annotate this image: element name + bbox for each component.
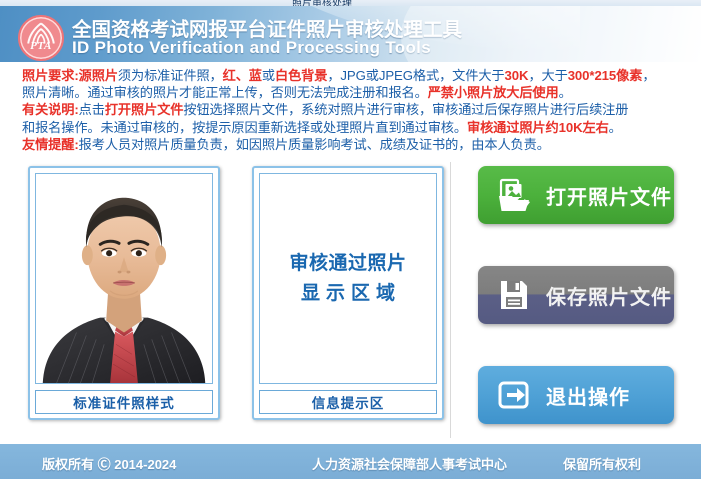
sample-photo-caption-label: 标准证件照样式 [73,392,175,412]
result-placeholder-line1: 审核通过照片 [289,249,406,279]
notice-line-2: 照片清晰。通过审核的照片才能正常上传，否则无法完成注册和报名。严禁小照片放大后使… [22,84,687,101]
exit-button[interactable]: 退出操作 [478,366,674,424]
notice-segment: 打开照片文件 [105,102,184,117]
app-header: PTA 全国资格考试网报平台证件照片审核处理工具 ID Photo Verifi… [0,6,701,62]
footer-rights: 保留所有权利 [563,454,641,473]
exit-button-label: 退出操作 [546,381,630,410]
notice-segment: 严禁小照片放大后使用 [428,85,559,100]
notice-line-1: 照片要求:源照片须为标准证件照，红、蓝或白色背景，JPG或JPEG格式，文件大于… [22,67,687,84]
floppy-disk-icon [494,275,534,315]
app-title-english: ID Photo Verification and Processing Too… [72,38,431,58]
pta-emblem-arcs-icon [20,17,62,59]
notice-segment: 。 [609,120,622,135]
open-photo-file-label: 打开照片文件 [546,181,672,210]
notice-line-4: 和报名操作。未通过审核的，按提示原因重新选择或处理照片直到通过审核。审核通过照片… [22,119,687,136]
notice-segment: 和报名操作。未通过审核的，按提示原因重新选择或处理照片直到通过审核。 [22,120,467,135]
open-folder-photo-icon [494,175,534,215]
sample-photo-caption: 标准证件照样式 [35,390,213,414]
notice-segment: 或 [262,68,275,83]
result-photo-display-area[interactable]: 审核通过照片 显示区域 [259,173,437,384]
notice-segment: 白色背景 [275,68,327,83]
notice-segment: ，大于 [528,68,567,83]
notice-segment: 红、蓝 [223,68,262,83]
open-photo-file-button[interactable]: 打开照片文件 [478,166,674,224]
notice-segment: 报考人员对照片质量负责，如因照片质量影响考试、成绩及证书的，由本人负责。 [79,137,550,152]
save-photo-file-button[interactable]: 保存照片文件 [478,266,674,324]
result-placeholder-line2: 显示区域 [295,279,401,309]
info-message-label: 信息提示区 [312,392,385,412]
notice-segment: 有关说明: [22,102,79,117]
notice-segment: 。 [559,85,572,100]
notice-segment: 照片清晰。通过审核的照片才能正常上传，否则无法完成注册和报名。 [22,85,428,100]
app-window: 照片审核处理 PTA 全国资格考试网报平台证件照片审核处理工具 ID Photo… [0,0,701,479]
notice-segment: 照片要求: [22,68,79,83]
sample-photo-panel: 标准证件照样式 [28,166,220,420]
notice-segment: 友情提醒: [22,137,79,152]
exit-arrow-icon [494,375,534,415]
result-photo-panel[interactable]: 审核通过照片 显示区域 信息提示区 [252,166,444,420]
requirements-notice: 照片要求:源照片须为标准证件照，红、蓝或白色背景，JPG或JPEG格式，文件大于… [0,62,701,158]
sample-portrait-photo [36,174,212,383]
notice-segment: 审核通过照片约10K左右 [467,120,609,135]
footer-organization: 人力资源社会保障部人事考试中心 [312,454,507,473]
notice-segment: 300*215像素 [568,68,643,83]
app-footer: 版权所有 Ⓒ 2014-2024 人力资源社会保障部人事考试中心 保留所有权利 [0,443,701,479]
vertical-divider [450,162,451,438]
notice-line-3: 有关说明:点击打开照片文件按钮选择照片文件，系统对照片进行审核，审核通过后保存照… [22,101,687,118]
notice-segment: 30K [505,68,529,83]
sample-photo-frame [35,173,213,384]
pta-emblem-icon: PTA [18,15,64,61]
notice-segment: ，JPG或JPEG格式，文件大于 [327,68,504,83]
notice-segment: 须为标准证件照， [118,68,223,83]
notice-segment: 点击 [79,102,105,117]
footer-copyright: 版权所有 Ⓒ 2014-2024 [42,454,176,473]
notice-segment: 按钮选择照片文件，系统对照片进行审核，审核通过后保存照片进行后续注册 [183,102,628,117]
notice-segment: ， [642,68,655,83]
pta-emblem-label: PTA [20,40,62,52]
info-message-area: 信息提示区 [259,390,437,414]
notice-segment: 源照片 [79,68,118,83]
notice-line-5: 友情提醒:报考人员对照片质量负责，如因照片质量影响考试、成绩及证书的，由本人负责… [22,136,687,153]
save-photo-file-label: 保存照片文件 [546,281,672,310]
